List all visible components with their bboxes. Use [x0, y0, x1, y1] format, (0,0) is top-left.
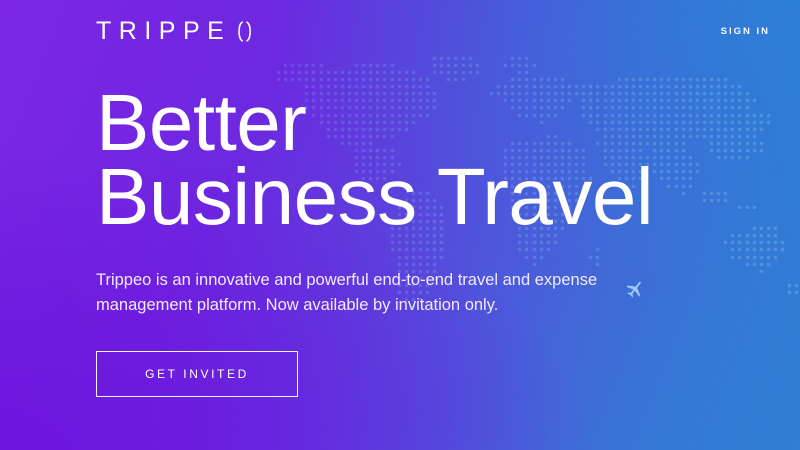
hero-section: TRIPPE SIGN IN Better Business Travel Tr…: [0, 0, 800, 450]
top-navigation-bar: TRIPPE SIGN IN: [0, 0, 800, 62]
headline-line-1: Better: [96, 84, 736, 162]
headline-line-2: Business Travel: [96, 158, 736, 236]
sign-in-link[interactable]: SIGN IN: [721, 26, 770, 37]
page-title: Better Business Travel: [96, 84, 736, 237]
hero-subcopy: Trippeo is an innovative and powerful en…: [96, 237, 656, 318]
get-invited-button[interactable]: GET INVITED: [96, 351, 298, 397]
brand-logo[interactable]: TRIPPE: [96, 19, 258, 44]
hero-content: Better Business Travel Trippeo is an inn…: [96, 84, 736, 397]
logo-wordmark: TRIPPE: [96, 19, 231, 44]
logo-circle-brackets-icon: [232, 19, 258, 44]
